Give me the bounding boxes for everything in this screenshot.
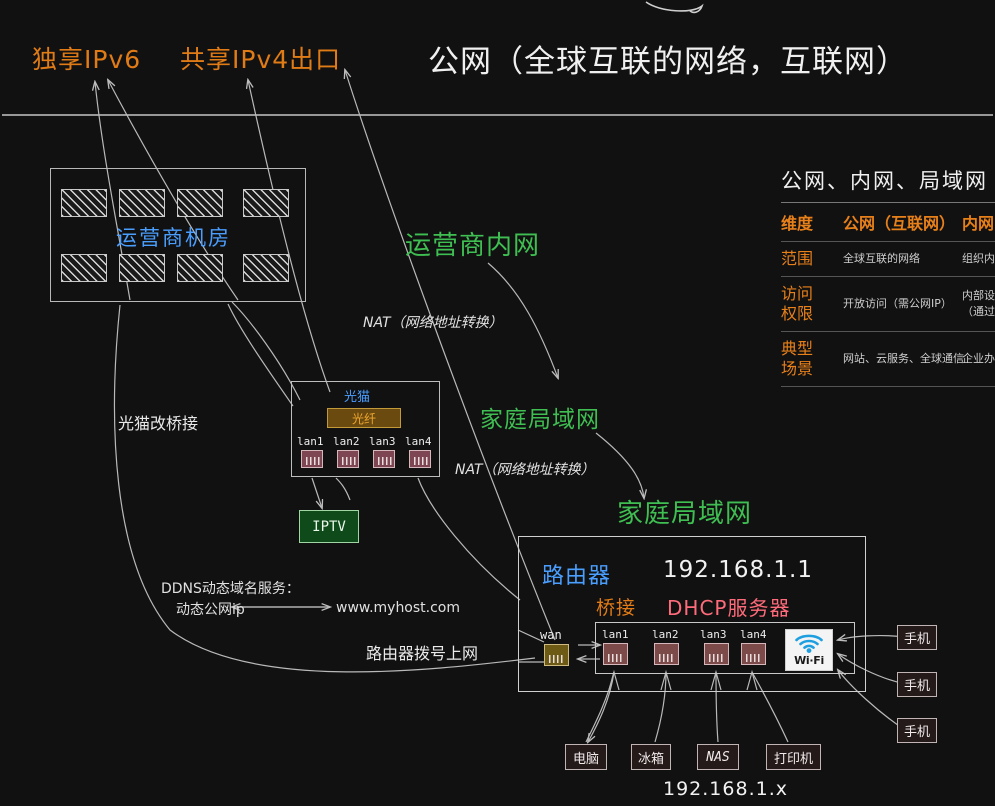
table-row: 访问 权限 开放访问（需公网IP） 内部设备 （通过N: [781, 277, 995, 332]
nat-note-isp: NAT（网络地址转换）: [363, 312, 503, 332]
row-dimension-access-line1: 访问: [781, 284, 833, 304]
cell-access-intranet: 内部设备 （通过N: [952, 277, 995, 332]
server-rack: [243, 254, 289, 282]
modem-port-lan4[interactable]: [409, 450, 431, 468]
wifi-icon: [794, 633, 824, 653]
modem-port-label-lan1: lan1: [297, 435, 324, 448]
wifi-label: Wi·Fi: [794, 654, 824, 667]
server-rack: [177, 254, 223, 282]
router-port-lan2[interactable]: [654, 643, 679, 665]
cell-access-intranet-line1: 内部设备: [962, 288, 995, 304]
device-box-printer[interactable]: 打印机: [766, 744, 821, 770]
cell-scope-public: 全球互联的网络: [833, 242, 952, 277]
wifi-badge[interactable]: Wi·Fi: [785, 629, 833, 671]
page-title: 公网（全球互联的网络，互联网）: [428, 36, 908, 81]
zone-label-home-lan-lower: 家庭局域网: [617, 493, 752, 530]
router-port-lan3[interactable]: [704, 643, 729, 665]
cell-scenario-public: 网站、云服务、全球通信: [833, 332, 952, 387]
device-box-phone-3[interactable]: 手机: [897, 718, 937, 743]
note-router-dialup: 路由器拨号上网: [366, 640, 478, 664]
row-dimension-access: 访问 权限: [781, 277, 833, 332]
router-port-label-lan2: lan2: [652, 628, 679, 641]
label-shared-ipv4-exit: 共享IPv4出口: [180, 40, 341, 76]
row-dimension-scenario-line1: 典型: [781, 339, 833, 359]
row-dimension-scenario-line2: 场景: [781, 359, 833, 379]
table-col-dimension: 维度: [781, 203, 833, 242]
router-port-label-lan4: lan4: [740, 628, 767, 641]
server-rack: [61, 254, 107, 282]
note-ddns-hostname: www.myhost.com: [336, 600, 460, 616]
note-modem-bridge-mode: 光猫改桥接: [118, 410, 198, 434]
iptv-box[interactable]: IPTV: [299, 510, 359, 543]
modem-port-label-lan3: lan3: [369, 435, 396, 448]
nat-note-home: NAT（网络地址转换）: [455, 459, 595, 479]
device-box-fridge[interactable]: 冰箱: [631, 744, 671, 770]
server-rack: [119, 189, 165, 217]
router-port-label-lan3: lan3: [700, 628, 727, 641]
device-box-computer[interactable]: 电脑: [565, 744, 607, 770]
note-ddns-title: DDNS动态域名服务：: [161, 578, 300, 598]
table-row: 典型 场景 网站、云服务、全球通信 企业办公: [781, 332, 995, 387]
modem-port-lan2[interactable]: [337, 450, 359, 468]
table-row: 范围 全球互联的网络 组织内部: [781, 242, 995, 277]
device-box-nas[interactable]: NAS: [697, 744, 739, 770]
note-lan-subnet: 192.168.1.x: [663, 778, 788, 800]
device-box-phone-1[interactable]: 手机: [897, 625, 937, 650]
router-port-label-wan: wan: [540, 628, 562, 642]
router-port-label-lan1: lan1: [602, 628, 629, 641]
modem-port-label-lan4: lan4: [405, 435, 432, 448]
table-header-row: 维度 公网（互联网） 内网: [781, 203, 995, 242]
diagram-canvas: 独享IPv6 共享IPv4出口 公网（全球互联的网络，互联网） 运营商机房 运营…: [0, 0, 995, 806]
modem-port-lan3[interactable]: [373, 450, 395, 468]
label-dedicated-ipv6: 独享IPv6: [32, 40, 141, 76]
cell-scope-intranet: 组织内部: [952, 242, 995, 277]
modem-port-label-lan2: lan2: [333, 435, 360, 448]
comparison-table: 维度 公网（互联网） 内网 范围 全球互联的网络 组织内部 访问 权限 开放访问…: [781, 202, 995, 387]
router-bridge-label: 桥接: [596, 593, 636, 620]
row-dimension-scope: 范围: [781, 242, 833, 277]
device-box-phone-2[interactable]: 手机: [897, 672, 937, 697]
zone-label-isp-intranet: 运营商内网: [405, 225, 540, 262]
operator-datacenter-label: 运营商机房: [116, 222, 231, 252]
comparison-table-panel: 公网、内网、局域网 维度 公网（互联网） 内网 范围 全球互联的网络 组织内部 …: [781, 165, 995, 387]
comparison-table-heading: 公网、内网、局域网: [781, 165, 995, 195]
row-dimension-scenario: 典型 场景: [781, 332, 833, 387]
table-col-intranet: 内网: [952, 203, 995, 242]
router-label: 路由器: [542, 558, 611, 590]
router-ip-address: 192.168.1.1: [663, 557, 813, 583]
row-dimension-access-line2: 权限: [781, 304, 833, 324]
cell-access-public: 开放访问（需公网IP）: [833, 277, 952, 332]
server-rack: [61, 189, 107, 217]
note-ddns-dynamic-ip: 动态公网ip: [176, 599, 245, 619]
router-port-lan1[interactable]: [603, 643, 628, 665]
server-rack: [119, 254, 165, 282]
dhcp-server-label: DHCP服务器: [667, 592, 790, 621]
optical-modem-title: 光猫: [344, 386, 370, 405]
router-port-lan4[interactable]: [741, 643, 766, 665]
zone-label-home-lan-upper: 家庭局域网: [480, 400, 600, 434]
server-rack: [177, 189, 223, 217]
router-port-wan[interactable]: [544, 644, 569, 666]
table-col-public: 公网（互联网）: [833, 203, 952, 242]
cell-access-intranet-line2: （通过N: [962, 304, 995, 320]
server-rack: [243, 189, 289, 217]
fiber-port[interactable]: 光纤: [327, 408, 401, 428]
modem-port-lan1[interactable]: [301, 450, 323, 468]
